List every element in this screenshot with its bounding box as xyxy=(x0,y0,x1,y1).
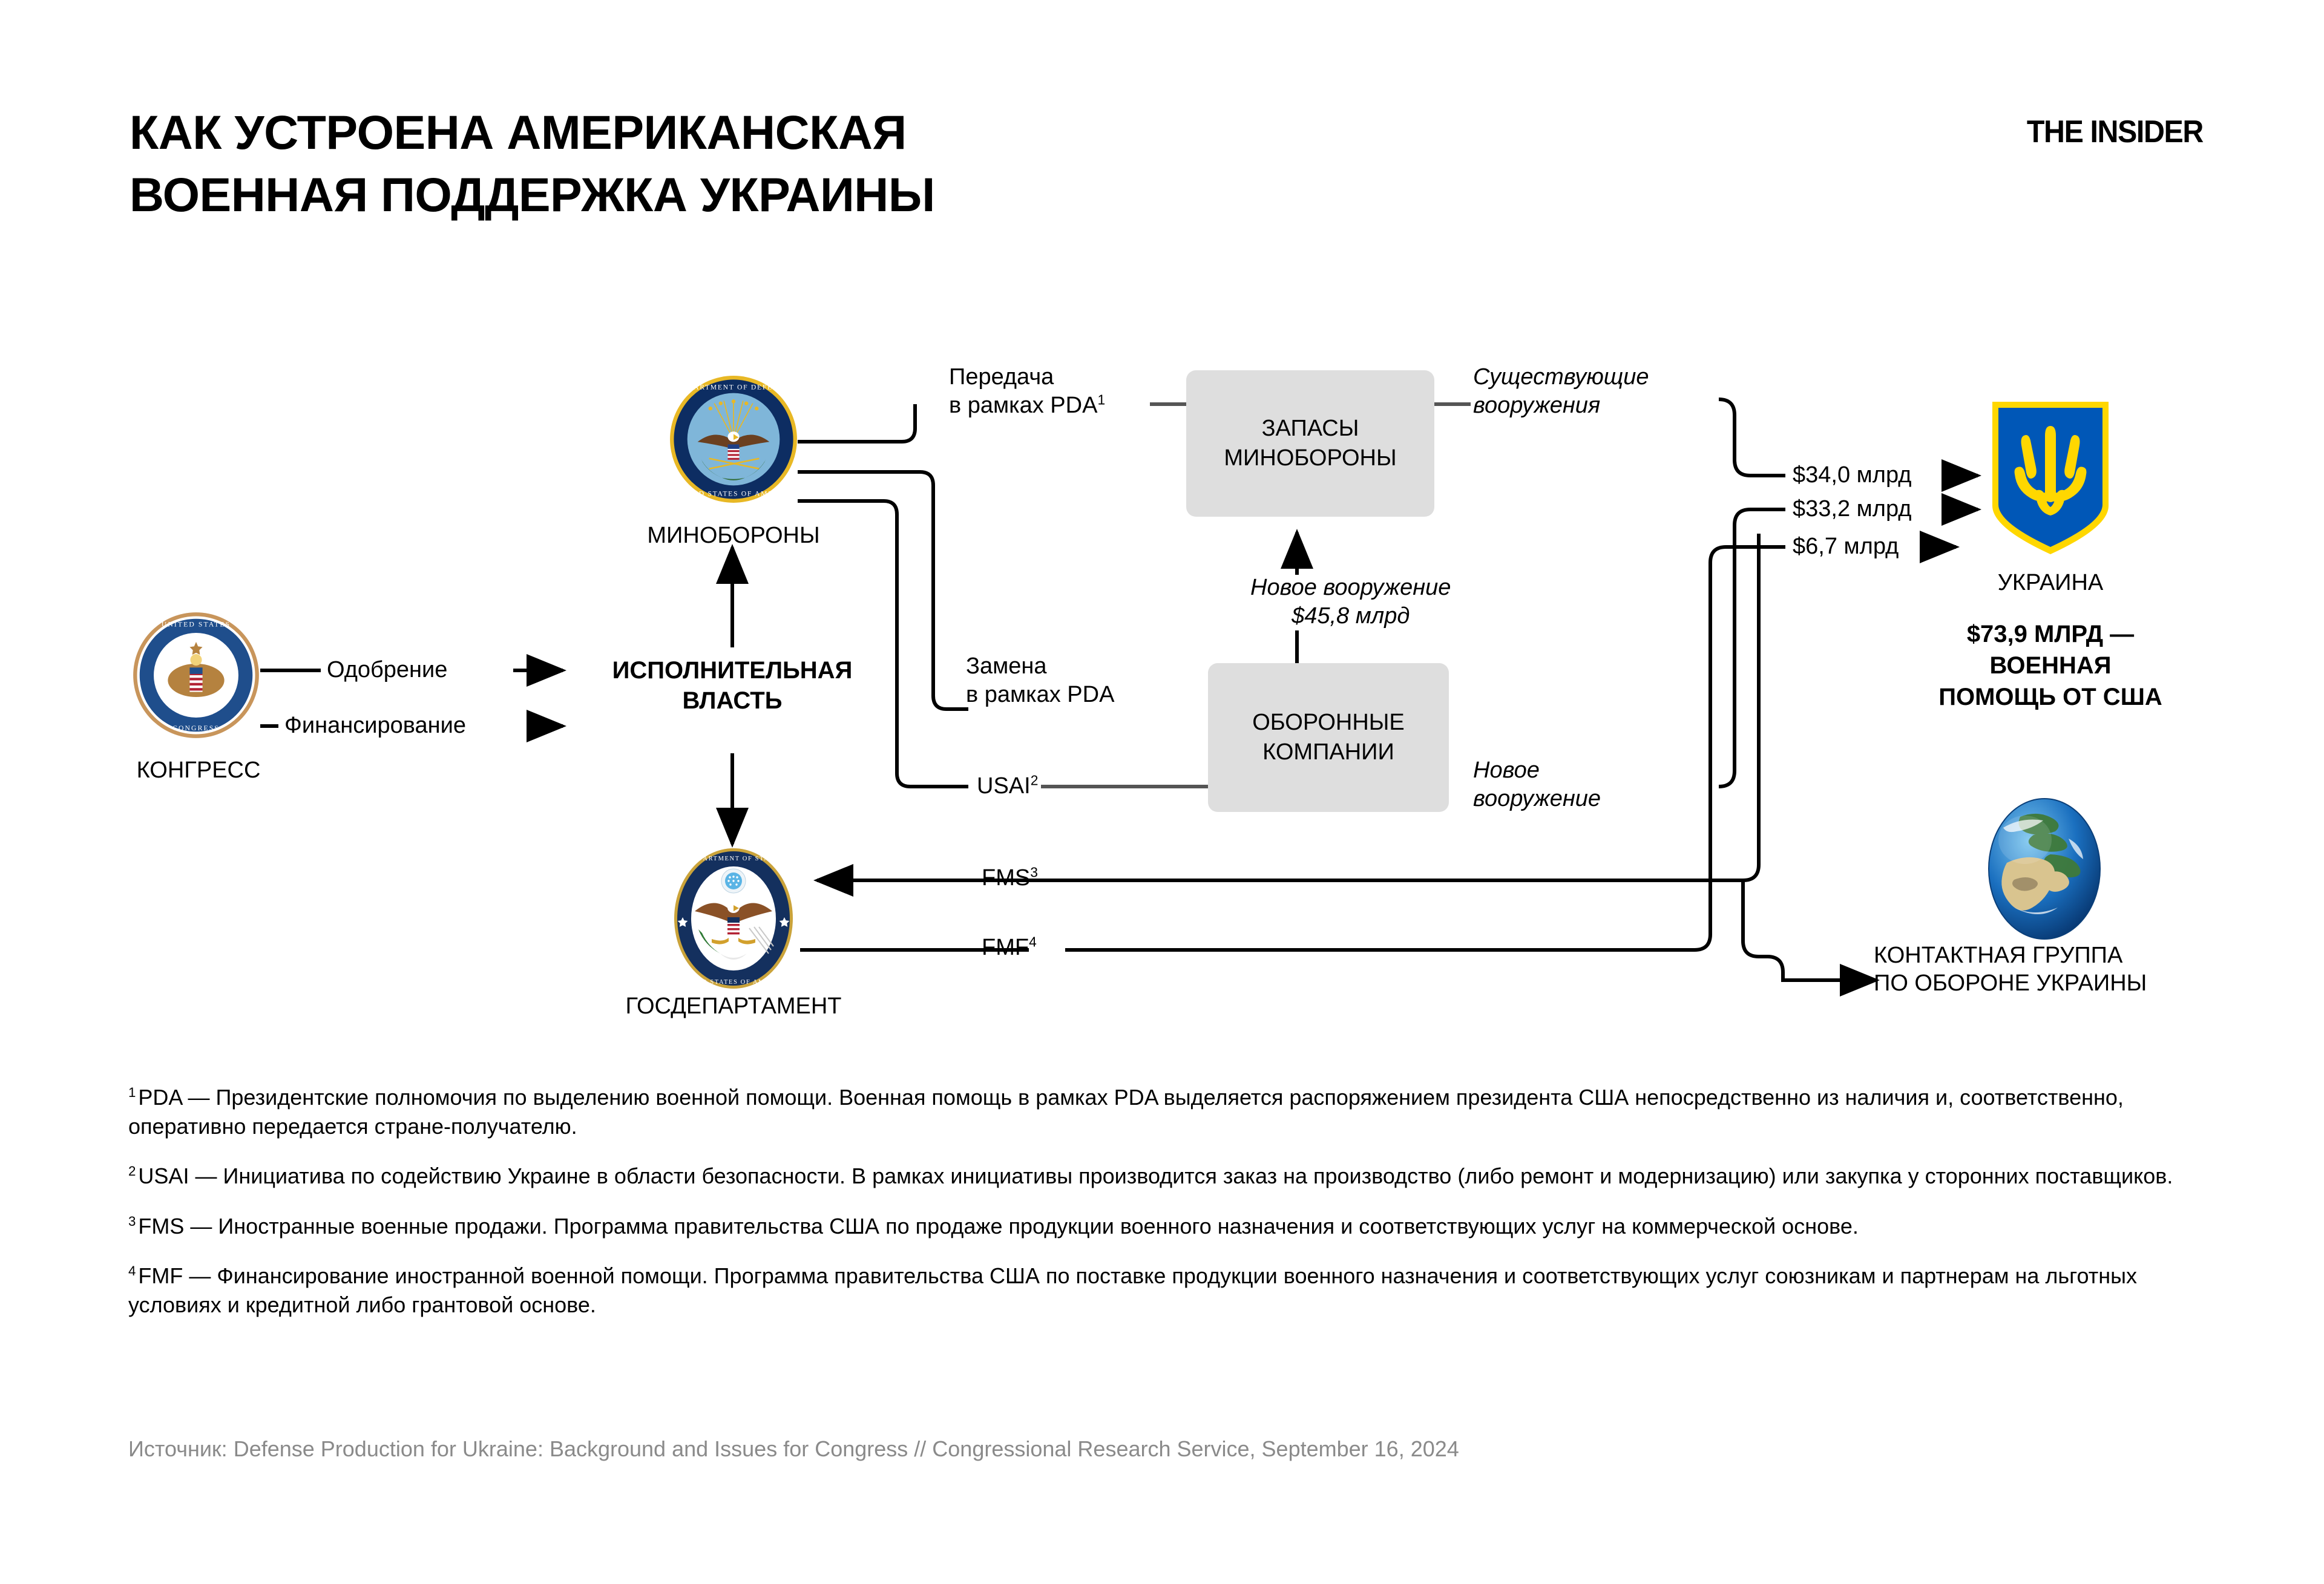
edge-label-new-weapons-line-1: Новое вооружение xyxy=(1250,574,1451,602)
defense-companies-box: ОБОРОННЫЕ КОМПАНИИ xyxy=(1208,663,1449,812)
footnote-3-text: FMS — Иностранные военные продажи. Прогр… xyxy=(138,1214,1858,1239)
edge-label-financing: Финансирование xyxy=(284,712,466,740)
wire-dod-pda-transfer xyxy=(798,404,915,442)
svg-text:DEPARTMENT OF STATE: DEPARTMENT OF STATE xyxy=(689,856,779,862)
edge-label-pda-transfer-line-2: в рамках PDA xyxy=(949,393,1097,418)
edge-label-new-weapons-out: Новое вооружение xyxy=(1473,756,1601,813)
edge-label-existing-weapons: Существующие вооружения xyxy=(1473,363,1649,420)
connector-wires xyxy=(0,0,2324,1065)
executive-branch-line-2: ВЛАСТЬ xyxy=(581,686,884,716)
edge-label-pda-replace-line-1: Замена xyxy=(966,652,1114,681)
defense-companies-line-2: КОМПАНИИ xyxy=(1252,738,1405,767)
diagram-canvas: UNITED STATES CONGRESS КОНГРЕСС Одобрени… xyxy=(0,0,2324,1065)
footnote-ref-3: 3 xyxy=(1030,864,1038,880)
footnote-ref-1: 1 xyxy=(1097,391,1105,407)
amount-label-34: $34,0 млрд xyxy=(1793,461,1911,489)
contact-group-line-1: КОНТАКТНАЯ ГРУППА xyxy=(1874,941,2285,969)
footnote-ref-2: 2 xyxy=(1031,772,1039,788)
edge-label-fms-text: FMS xyxy=(982,865,1030,891)
ukraine-label: УКРАИНА xyxy=(1966,569,2135,597)
edge-label-usai: USAI2 xyxy=(977,772,1038,800)
edge-label-approval: Одобрение xyxy=(327,656,447,684)
dod-stocks-line-1: ЗАПАСЫ xyxy=(1224,414,1396,443)
edge-label-existing-weapons-line-2: вооружения xyxy=(1473,391,1649,420)
footnote-ref-4: 4 xyxy=(1029,934,1037,949)
dod-stocks-box: ЗАПАСЫ МИНОБОРОНЫ xyxy=(1186,370,1434,517)
contact-group-line-2: ПО ОБОРОНЕ УКРАИНЫ xyxy=(1874,969,2285,997)
svg-text:CONGRESS: CONGRESS xyxy=(172,724,220,732)
source-line: Источник: Defense Production for Ukraine… xyxy=(128,1435,2186,1464)
footnote-2-marker: 2 xyxy=(128,1163,136,1179)
edge-label-pda-transfer: Передача в рамках PDA1 xyxy=(949,363,1105,420)
footnote-2: 2USAI — Инициатива по содействию Украине… xyxy=(128,1162,2204,1191)
footnote-4-marker: 4 xyxy=(128,1263,136,1278)
dod-label: МИНОБОРОНЫ xyxy=(625,522,842,549)
edge-label-pda-transfer-line-1: Передача xyxy=(949,363,1105,391)
wire-new-to-33 xyxy=(1719,509,1785,787)
footnote-1-text: PDA — Президентские полномочия по выделе… xyxy=(128,1085,2124,1139)
footnote-4-text: FMF — Финансирование иностранной военной… xyxy=(128,1263,2137,1317)
ukraine-emblem-icon xyxy=(1990,399,2111,557)
footnote-1-marker: 1 xyxy=(128,1085,136,1100)
wire-existing-to-34 xyxy=(1719,399,1785,476)
edge-label-new-weapons-amount-value: $45,8 млрд xyxy=(1250,602,1451,630)
ukraine-total-line-3: ПОМОЩЬ ОТ США xyxy=(1917,681,2184,713)
congress-label: КОНГРЕСС xyxy=(120,756,277,784)
edge-label-fms: FMS3 xyxy=(982,864,1038,892)
edge-label-pda-replace: Замена в рамках PDA xyxy=(966,652,1114,709)
amount-label-33: $33,2 млрд xyxy=(1793,495,1911,523)
footnote-3-marker: 3 xyxy=(128,1214,136,1229)
edge-label-fmf: FMF4 xyxy=(982,934,1037,962)
edge-label-new-weapons-amount: Новое вооружение $45,8 млрд xyxy=(1250,574,1451,630)
ukraine-total-line-1: $73,9 МЛРД — xyxy=(1917,618,2184,650)
footnote-3: 3FMS — Иностранные военные продажи. Прог… xyxy=(128,1212,2204,1241)
footnote-4: 4FMF — Финансирование иностранной военно… xyxy=(128,1262,2204,1320)
footnote-1: 1PDA — Президентские полномочия по выдел… xyxy=(128,1083,2204,1141)
globe-icon xyxy=(1978,796,2111,941)
edge-label-usai-text: USAI xyxy=(977,773,1031,799)
svg-text:UNITED STATES: UNITED STATES xyxy=(162,620,231,628)
footnote-2-text: USAI — Инициатива по содействию Украине … xyxy=(138,1163,2173,1188)
defense-companies-line-1: ОБОРОННЫЕ xyxy=(1252,708,1405,738)
contact-group-label: КОНТАКТНАЯ ГРУППА ПО ОБОРОНЕ УКРАИНЫ xyxy=(1874,941,2285,998)
ukraine-total-aid: $73,9 МЛРД — ВОЕННАЯ ПОМОЩЬ ОТ США xyxy=(1917,618,2184,713)
svg-text:UNITED STATES OF AMERICA: UNITED STATES OF AMERICA xyxy=(678,979,789,986)
edge-label-fmf-text: FMF xyxy=(982,935,1029,960)
edge-label-existing-weapons-line-1: Существующие xyxy=(1473,363,1649,391)
footnotes-block: 1PDA — Президентские полномочия по выдел… xyxy=(128,1083,2204,1340)
congress-seal-icon: UNITED STATES CONGRESS xyxy=(132,611,260,739)
ukraine-total-line-2: ВОЕННАЯ xyxy=(1917,650,2184,681)
executive-branch-line-1: ИСПОЛНИТЕЛЬНАЯ xyxy=(581,656,884,686)
department-of-defense-seal-icon: DEPARTMENT OF DEFENSE UNITED STATES OF A… xyxy=(669,375,798,503)
executive-branch-node: ИСПОЛНИТЕЛЬНАЯ ВЛАСТЬ xyxy=(581,656,884,716)
edge-label-new-weapons-out-line-1: Новое xyxy=(1473,756,1601,785)
amount-label-67: $6,7 млрд xyxy=(1793,532,1899,561)
edge-label-new-weapons-out-line-2: вооружение xyxy=(1473,785,1601,813)
state-department-label: ГОСДЕПАРТАМЕНТ xyxy=(600,992,867,1020)
wire-to-contact-group xyxy=(1743,880,1876,980)
dod-stocks-line-2: МИНОБОРОНЫ xyxy=(1224,443,1396,473)
edge-label-pda-replace-line-2: в рамках PDA xyxy=(966,681,1114,709)
department-of-state-seal-icon: DEPARTMENT OF STATE UNITED STATES OF AME… xyxy=(673,847,794,990)
